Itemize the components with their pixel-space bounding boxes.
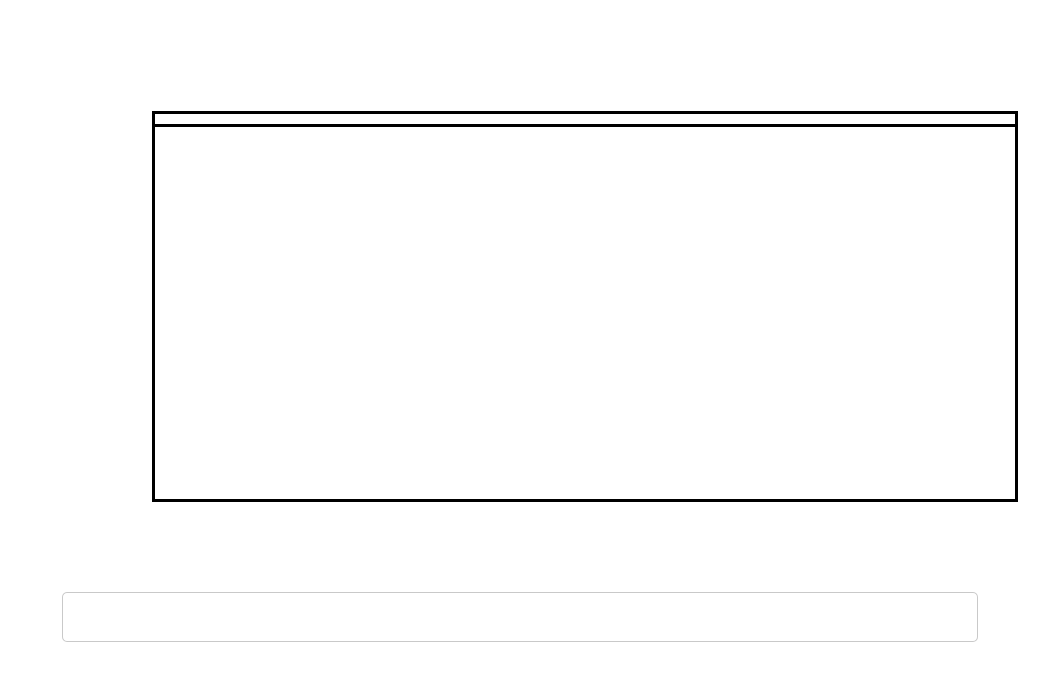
availability-separator	[155, 124, 1015, 127]
plot-area	[152, 111, 1018, 502]
legend	[62, 592, 978, 642]
plot-inner	[155, 114, 1015, 499]
